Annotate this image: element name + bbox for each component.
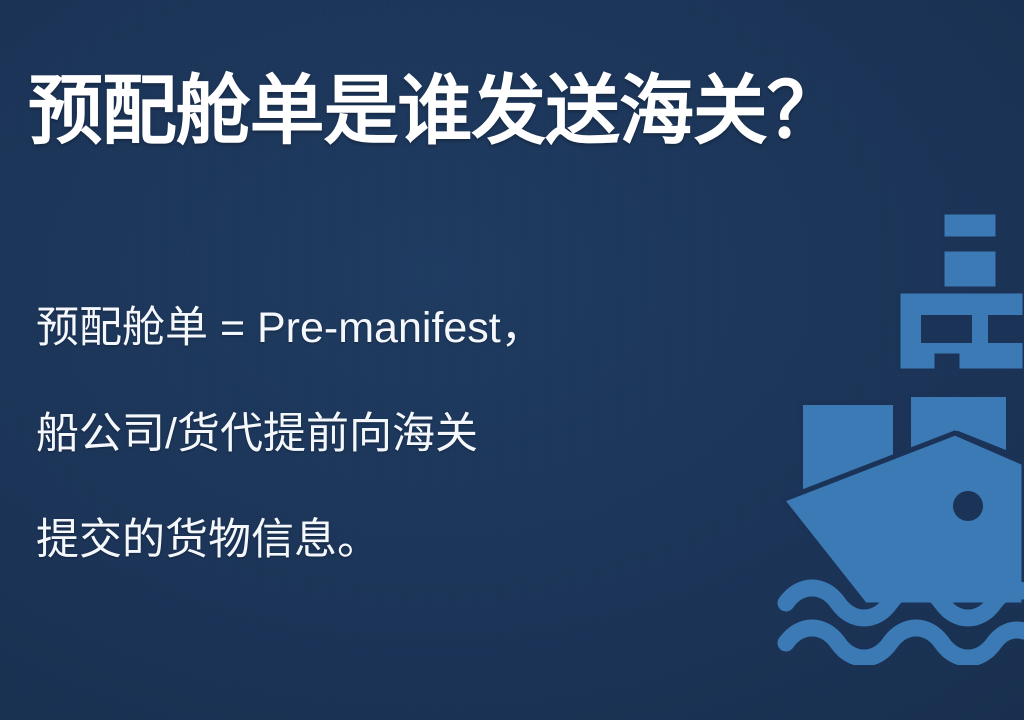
bridge-window-left-icon [921,315,972,343]
body-line-1: 预配舱单 = Pre-manifest， [36,300,696,356]
wave-lower-icon [786,628,1024,658]
container-top-icon [943,213,997,238]
slide-body-copy: 预配舱单 = Pre-manifest， 船公司/货代提前向海关 提交的货物信息… [36,300,696,568]
body-line-2: 船公司/货代提前向海关 [36,406,696,462]
container-second-icon [943,250,997,288]
cargo-ship-illustration [770,195,1024,665]
slide-headline: 预配舱单是谁发送海关？ [28,64,974,160]
bridge-window-right-icon [988,315,1024,343]
slide-canvas: 预配舱单是谁发送海关？ 预配舱单 = Pre-manifest， 船公司/货代提… [0,0,1024,720]
cargo-ship-svg [770,195,1024,665]
body-line-3: 提交的货物信息。 [36,512,696,568]
porthole-icon [953,491,983,521]
